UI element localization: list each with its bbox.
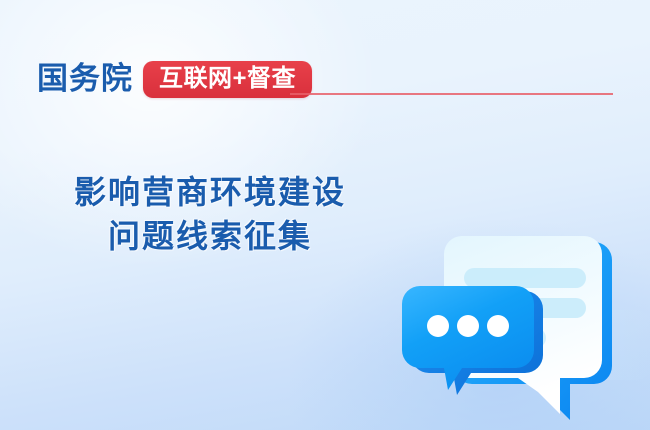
- gov-label: 国务院: [37, 63, 133, 96]
- page-title-line-2: 问题线索征集: [0, 214, 420, 258]
- header-rule-divider: [290, 93, 613, 95]
- banner-header: 国务院 互联网+督查: [37, 57, 312, 101]
- chat-bubbles-illustration: [390, 198, 650, 430]
- campaign-badge: 互联网+督查: [143, 61, 312, 98]
- page-title-line-1: 影响营商环境建设: [0, 170, 420, 214]
- promo-banner: 国务院 互联网+督查 影响营商环境建设 问题线索征集: [0, 0, 650, 430]
- page-title: 影响营商环境建设 问题线索征集: [0, 170, 420, 258]
- typing-dots-icon: [427, 315, 509, 337]
- campaign-badge-label: 互联网+督查: [159, 67, 296, 91]
